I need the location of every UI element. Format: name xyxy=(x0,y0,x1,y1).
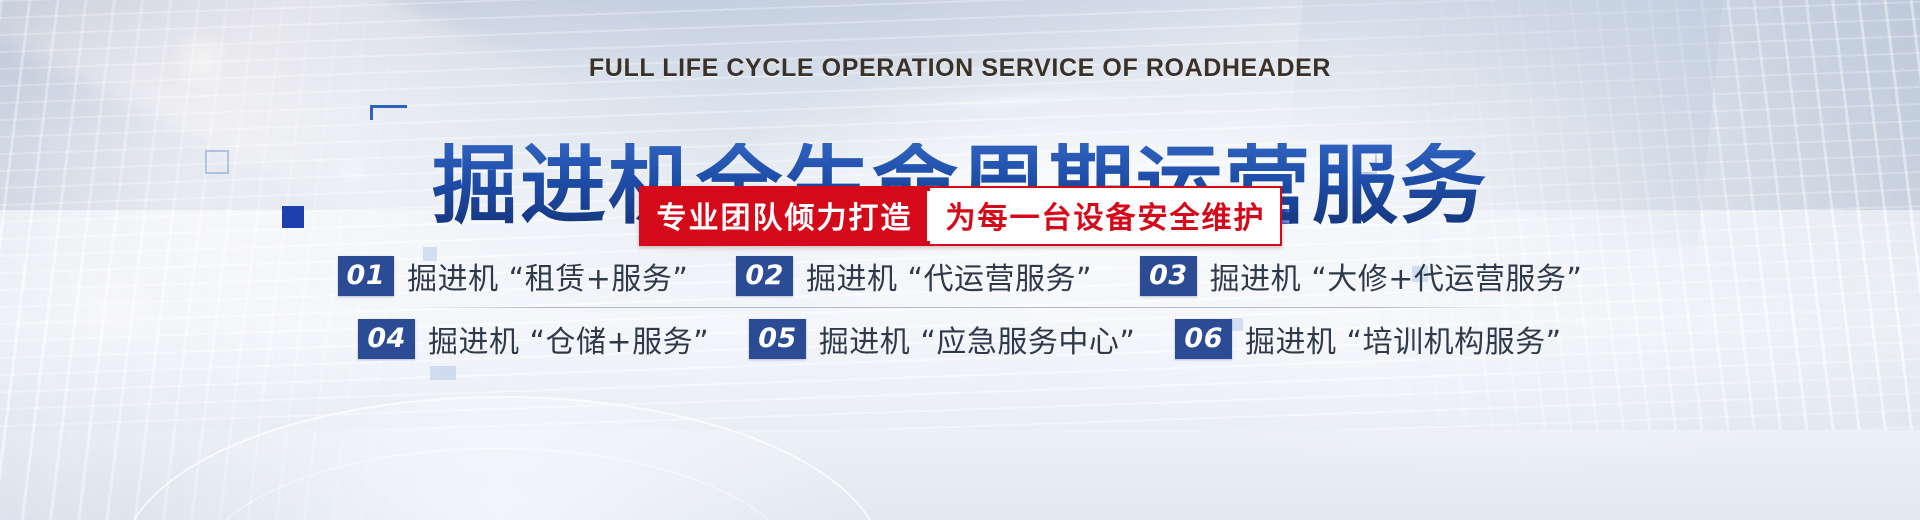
service-row-1: 01 掘进机 “租赁+服务” 02 掘进机 “代运营服务” 03 掘进机 “大修… xyxy=(0,245,1920,307)
service-item-02[interactable]: 02 掘进机 “代运营服务” xyxy=(736,254,1092,298)
service-item-03[interactable]: 03 掘进机 “大修+代运营服务” xyxy=(1140,254,1582,298)
service-number-badge: 04 xyxy=(358,319,415,359)
promo-banner: FULL LIFE CYCLE OPERATION SERVICE OF ROA… xyxy=(0,0,1920,520)
service-item-06[interactable]: 06 掘进机 “培训机构服务” xyxy=(1175,317,1561,361)
service-item-04[interactable]: 04 掘进机 “仓储+服务” xyxy=(358,317,709,361)
tagline-left-text: 专业团队倾力打造 xyxy=(641,188,927,244)
service-number-badge: 01 xyxy=(338,256,395,296)
tagline-box: 专业团队倾力打造 为每一台设备安全维护 xyxy=(639,186,1282,246)
banner-content: FULL LIFE CYCLE OPERATION SERVICE OF ROA… xyxy=(0,0,1920,520)
banner-tagline: 专业团队倾力打造 为每一台设备安全维护 xyxy=(0,186,1920,246)
service-label: 掘进机 “大修+代运营服务” xyxy=(1210,254,1583,298)
service-label: 掘进机 “租赁+服务” xyxy=(407,254,688,298)
service-label: 掘进机 “培训机构服务” xyxy=(1245,317,1562,361)
service-item-01[interactable]: 01 掘进机 “租赁+服务” xyxy=(338,254,689,298)
service-number-badge: 02 xyxy=(736,256,793,296)
service-label: 掘进机 “仓储+服务” xyxy=(428,317,709,361)
service-row-2: 04 掘进机 “仓储+服务” 05 掘进机 “应急服务中心” 06 掘进机 “培… xyxy=(0,308,1920,370)
service-number-badge: 05 xyxy=(749,319,806,359)
tagline-right-text: 为每一台设备安全维护 xyxy=(930,188,1280,244)
service-number-badge: 06 xyxy=(1175,319,1232,359)
service-label: 掘进机 “应急服务中心” xyxy=(819,317,1136,361)
service-item-05[interactable]: 05 掘进机 “应急服务中心” xyxy=(749,317,1135,361)
service-list: 01 掘进机 “租赁+服务” 02 掘进机 “代运营服务” 03 掘进机 “大修… xyxy=(0,245,1920,370)
service-number-badge: 03 xyxy=(1140,256,1197,296)
banner-eyebrow: FULL LIFE CYCLE OPERATION SERVICE OF ROA… xyxy=(0,54,1920,83)
service-label: 掘进机 “代运营服务” xyxy=(806,254,1092,298)
